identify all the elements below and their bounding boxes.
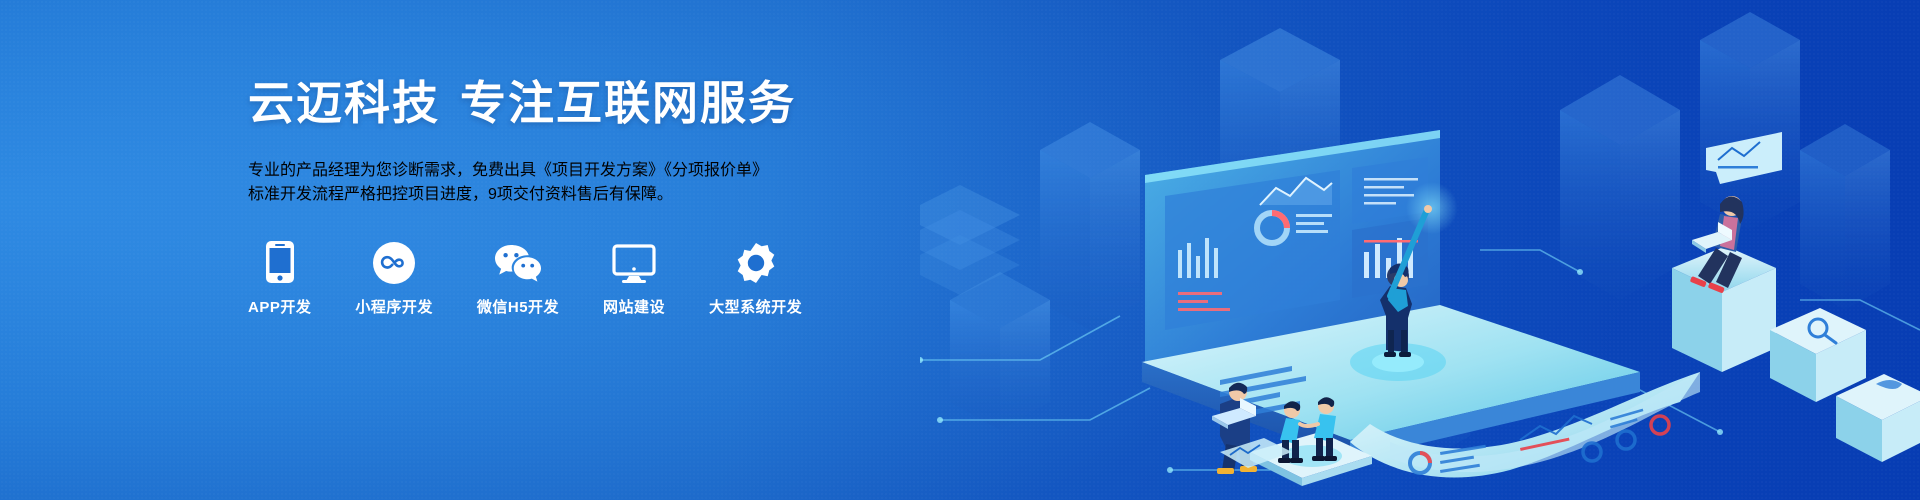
title-part-2: 专注互联网服务 bbox=[460, 77, 796, 129]
service-label-miniprogram: 小程序开发 bbox=[355, 296, 433, 317]
service-label-app: APP开发 bbox=[248, 296, 311, 317]
wechat-icon bbox=[494, 238, 542, 284]
page-title: 云迈科技专注互联网服务 bbox=[248, 78, 1078, 130]
subtitle-line-1: 专业的产品经理为您诊断需求，免费出具《项目开发方案》《分项报价单》 bbox=[248, 156, 1078, 180]
service-label-system: 大型系统开发 bbox=[709, 296, 802, 317]
monitor-icon bbox=[612, 238, 656, 284]
mobile-phone-icon bbox=[265, 238, 295, 284]
service-item-system[interactable]: 大型系统开发 bbox=[709, 238, 802, 317]
service-label-website: 网站建设 bbox=[603, 296, 665, 317]
hero-banner: 云迈科技专注互联网服务 专业的产品经理为您诊断需求，免费出具《项目开发方案》《分… bbox=[0, 0, 1920, 500]
banner-content: 云迈科技专注互联网服务 专业的产品经理为您诊断需求，免费出具《项目开发方案》《分… bbox=[248, 78, 1078, 317]
title-part-1: 云迈科技 bbox=[248, 77, 440, 129]
service-item-website[interactable]: 网站建设 bbox=[603, 238, 665, 317]
service-label-wechat: 微信H5开发 bbox=[477, 296, 559, 317]
service-item-app[interactable]: APP开发 bbox=[248, 238, 311, 317]
service-icon-list: APP开发 小程序开发 bbox=[248, 238, 1078, 317]
service-item-miniprogram[interactable]: 小程序开发 bbox=[355, 238, 433, 317]
mini-program-icon bbox=[373, 238, 415, 284]
small-cube-bottom-right bbox=[1836, 374, 1920, 462]
service-item-wechat[interactable]: 微信H5开发 bbox=[477, 238, 559, 317]
magnifier-cube bbox=[1770, 308, 1866, 402]
gear-icon bbox=[735, 238, 777, 284]
woman-on-pedestal-with-laptop bbox=[1672, 132, 1782, 372]
subtitle-line-2: 标准开发流程严格把控项目进度，9项交付资料售后有保障。 bbox=[248, 180, 1078, 204]
